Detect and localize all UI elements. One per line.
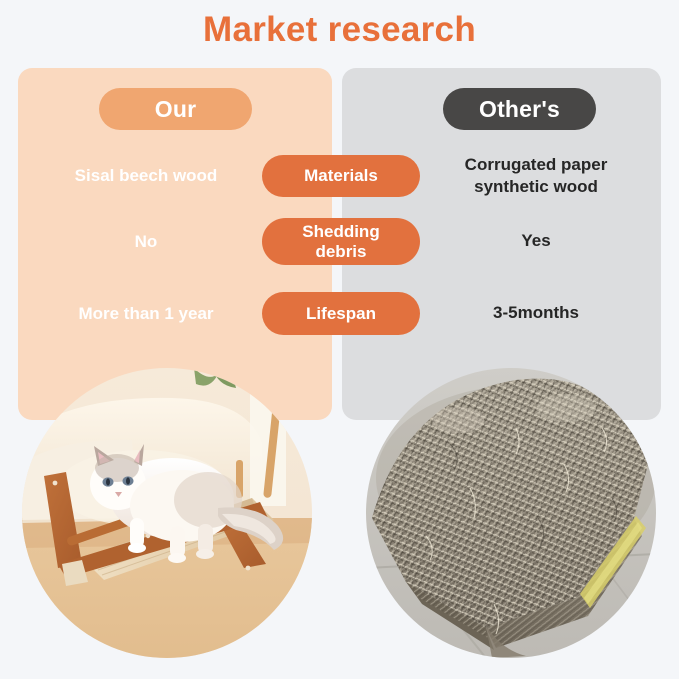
market-research-comparison: Market research Our Other's Sisal beech … bbox=[0, 0, 679, 679]
other-value-lifespan: 3-5months bbox=[420, 292, 652, 335]
other-header-pill: Other's bbox=[443, 88, 596, 130]
other-value-materials: Corrugated papersynthetic wood bbox=[420, 148, 652, 204]
other-value-shedding: Yes bbox=[420, 218, 652, 265]
page-title: Market research bbox=[0, 10, 679, 50]
our-value-shedding: No bbox=[30, 218, 262, 265]
feature-pill-shedding: Sheddingdebris bbox=[262, 218, 420, 265]
our-value-lifespan: More than 1 year bbox=[30, 292, 262, 335]
our-value-materials: Sisal beech wood bbox=[30, 155, 262, 197]
our-header-pill: Our bbox=[99, 88, 252, 130]
our-product-photo bbox=[22, 368, 312, 658]
feature-pill-lifespan: Lifespan bbox=[262, 292, 420, 335]
feature-pill-materials: Materials bbox=[262, 155, 420, 197]
other-product-photo bbox=[366, 368, 656, 658]
